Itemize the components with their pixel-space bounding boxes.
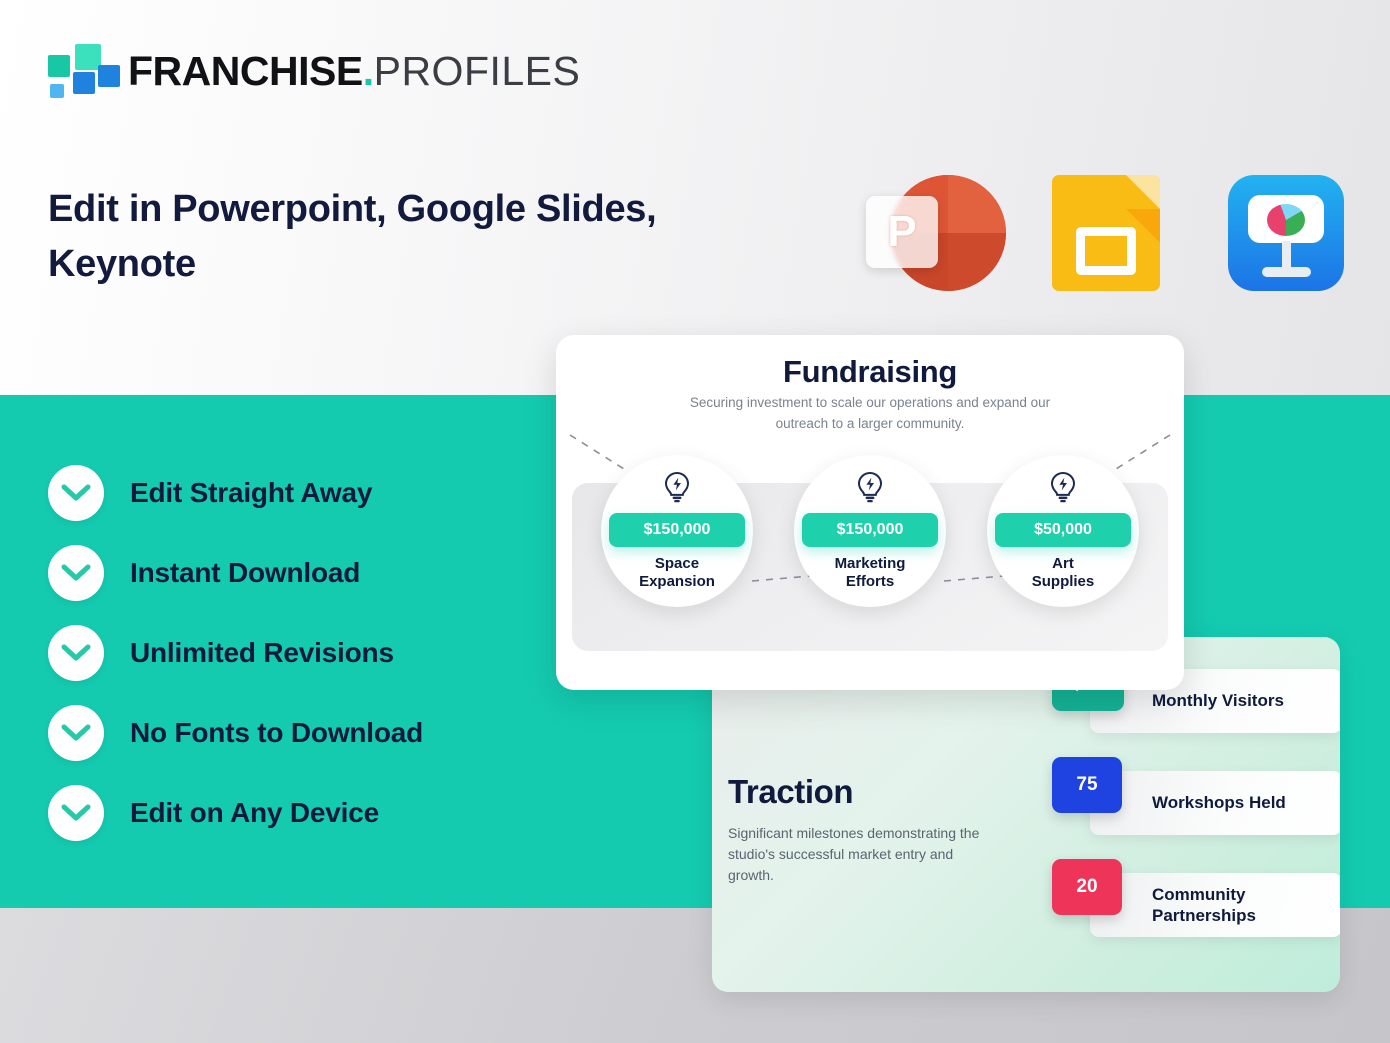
lightbulb-icon — [794, 471, 946, 503]
feature-item[interactable]: Unlimited Revisions — [48, 622, 423, 684]
traction-row-value: 20 — [1052, 859, 1122, 915]
feature-label: Unlimited Revisions — [130, 637, 394, 669]
page-title: Edit in Powerpoint, Google Slides, Keyno… — [48, 182, 708, 292]
fundraising-node-amount: $150,000 — [609, 513, 745, 547]
chevron-down-icon — [48, 785, 104, 841]
traction-row-label: Workshops Held — [1152, 792, 1286, 813]
node-name-line2: Expansion — [639, 573, 715, 590]
fundraising-subtitle: Securing investment to scale our operati… — [666, 393, 1074, 435]
brand-wordmark: FRANCHISE . PROFILES — [128, 51, 580, 92]
fundraising-node: $50,000 Art Supplies — [987, 455, 1139, 607]
google-slides-icon — [1044, 170, 1170, 296]
feature-item[interactable]: Instant Download — [48, 542, 423, 604]
fundraising-nodes: $150,000 Space Expansion $150,000 — [556, 455, 1184, 615]
powerpoint-letter: P — [866, 196, 938, 268]
fundraising-node-amount: $50,000 — [995, 513, 1131, 547]
traction-row-bar: Community Partnerships — [1090, 873, 1340, 937]
fundraising-node-name: Space Expansion — [601, 555, 753, 591]
keynote-icon — [1222, 170, 1348, 296]
traction-row-bar: Workshops Held — [1090, 771, 1340, 835]
node-name-line1: Art — [1052, 555, 1074, 572]
fundraising-slide-card[interactable]: Fundraising Securing investment to scale… — [556, 335, 1184, 690]
chevron-down-icon — [48, 625, 104, 681]
feature-label: No Fonts to Download — [130, 717, 423, 749]
traction-row-label: Monthly Visitors — [1152, 690, 1284, 711]
feature-item[interactable]: Edit on Any Device — [48, 782, 423, 844]
node-name-line1: Space — [655, 555, 699, 572]
lightbulb-icon — [987, 471, 1139, 503]
traction-title: Traction — [728, 773, 853, 811]
traction-slide-card[interactable]: Traction Significant milestones demonstr… — [712, 637, 1340, 992]
powerpoint-icon: P — [866, 170, 992, 296]
fundraising-node-amount: $150,000 — [802, 513, 938, 547]
brand-logo[interactable]: FRANCHISE . PROFILES — [48, 44, 580, 98]
wordmark-strong: FRANCHISE — [128, 51, 363, 92]
node-name-line2: Supplies — [1032, 573, 1095, 590]
feature-item[interactable]: Edit Straight Away — [48, 462, 423, 524]
feature-label: Instant Download — [130, 557, 360, 589]
traction-subtitle: Significant milestones demonstrating the… — [728, 823, 998, 886]
fundraising-node-name: Marketing Efforts — [794, 555, 946, 591]
traction-row-value: 75 — [1052, 757, 1122, 813]
chevron-down-icon — [48, 545, 104, 601]
squares-logo-icon — [48, 44, 110, 98]
node-name-line1: Marketing — [835, 555, 906, 572]
fundraising-title: Fundraising — [556, 354, 1184, 390]
feature-label: Edit Straight Away — [130, 477, 372, 509]
wordmark-dot: . — [363, 51, 374, 92]
app-icons-row: P — [866, 170, 1348, 296]
traction-row-label: Community Partnerships — [1152, 884, 1340, 927]
lightbulb-icon — [601, 471, 753, 503]
chevron-down-icon — [48, 465, 104, 521]
fundraising-node: $150,000 Space Expansion — [601, 455, 753, 607]
fundraising-node-name: Art Supplies — [987, 555, 1139, 591]
fundraising-node: $150,000 Marketing Efforts — [794, 455, 946, 607]
node-name-line2: Efforts — [846, 573, 894, 590]
promo-banner: FRANCHISE . PROFILES Edit in Powerpoint,… — [0, 0, 1390, 1043]
chevron-down-icon — [48, 705, 104, 761]
feature-label: Edit on Any Device — [130, 797, 379, 829]
feature-item[interactable]: No Fonts to Download — [48, 702, 423, 764]
wordmark-light: PROFILES — [374, 51, 581, 92]
feature-list: Edit Straight Away Instant Download Unli… — [48, 462, 423, 844]
